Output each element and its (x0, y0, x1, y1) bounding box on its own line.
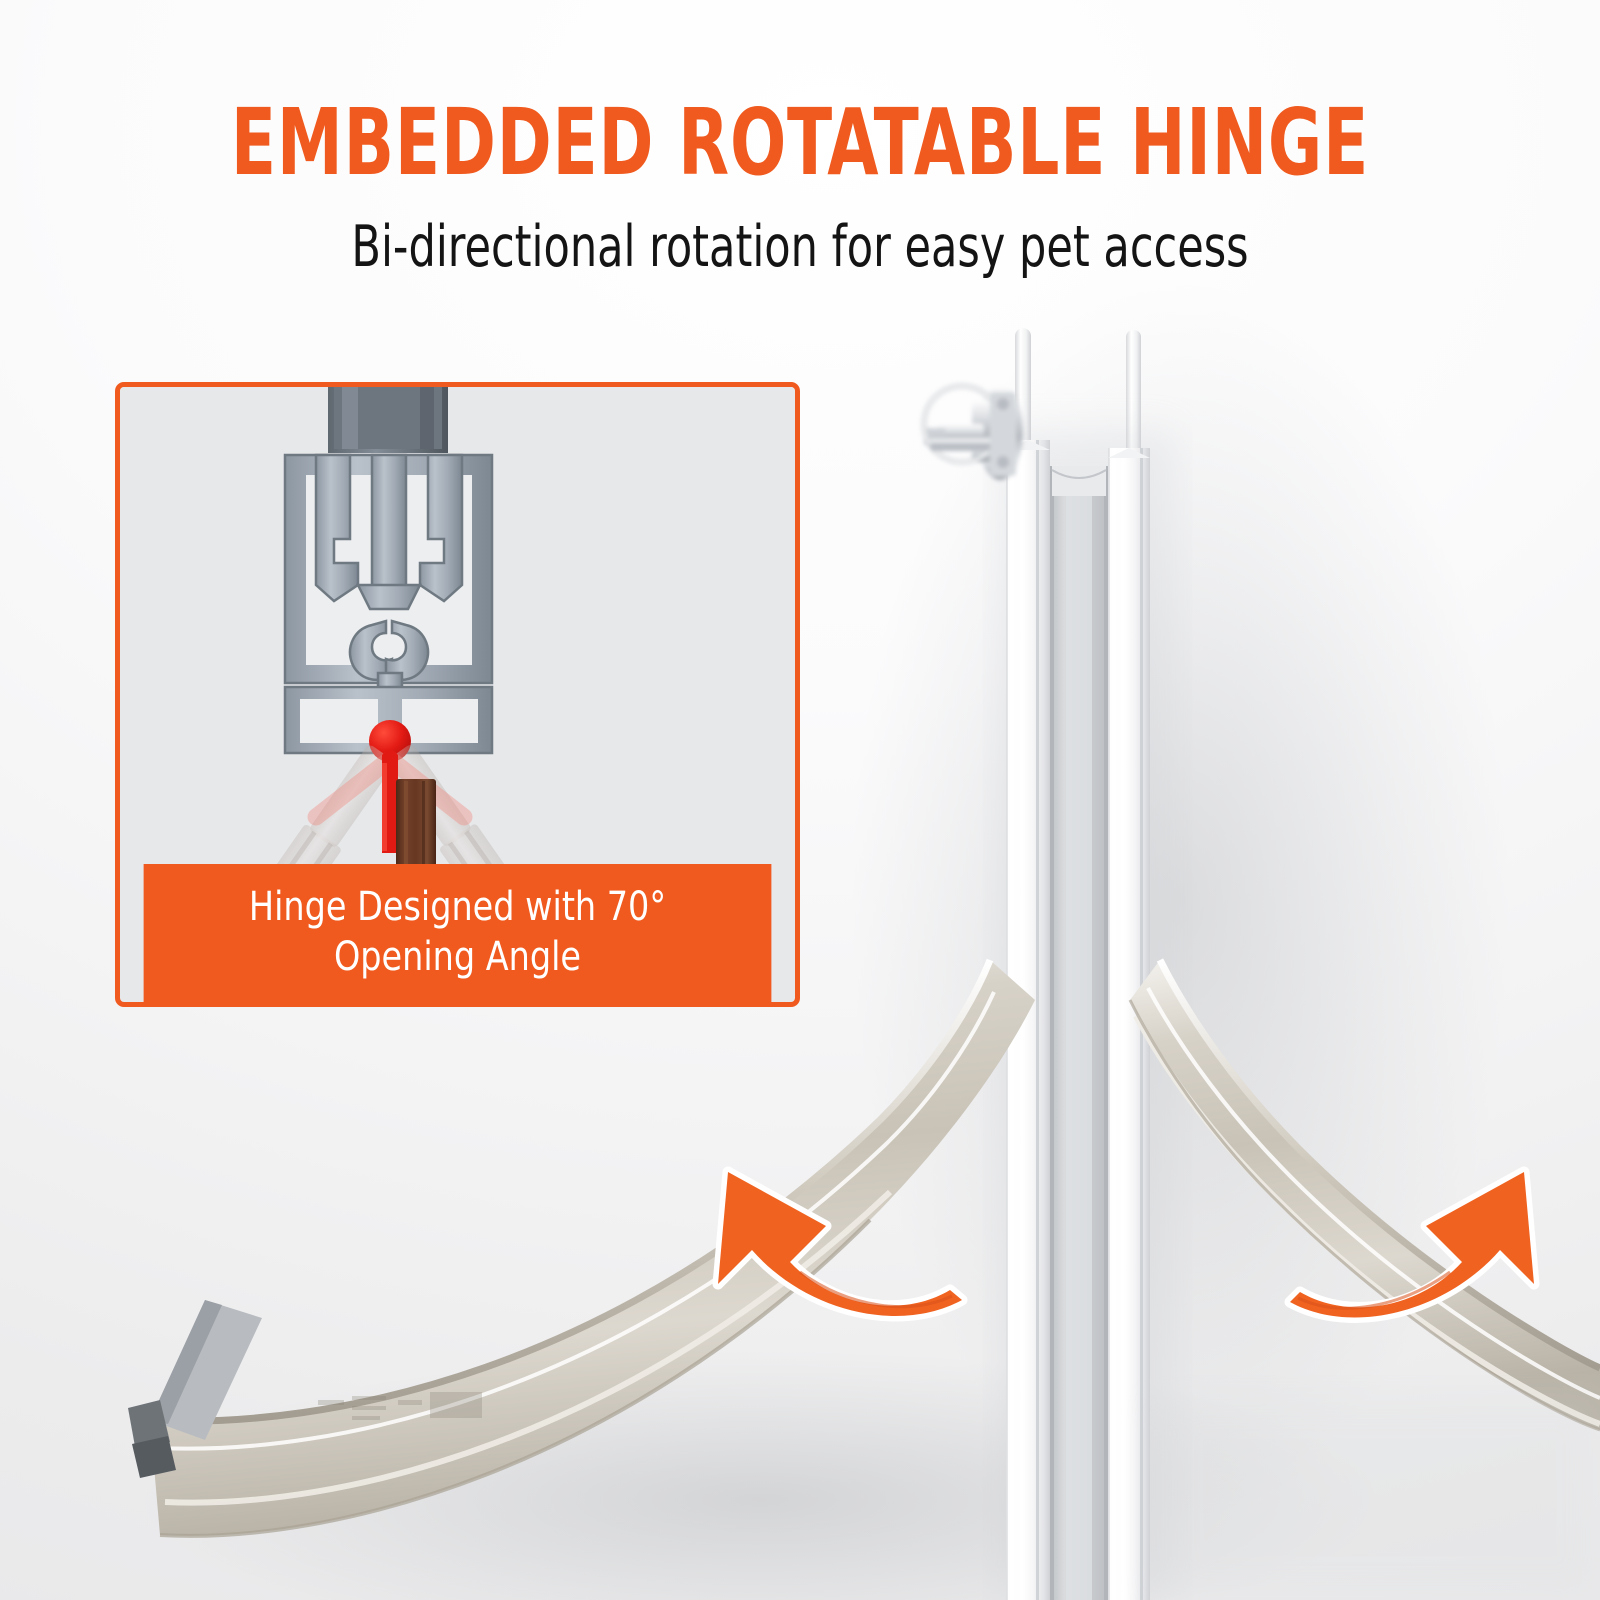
product-feature-graphic: Hinge Designed with 70° Opening Angle EM… (0, 0, 1600, 1600)
page-title: EMBEDDED ROTATABLE HINGE (160, 95, 1440, 191)
gate-frame-assembly (1000, 328, 1175, 1600)
inset-caption: Hinge Designed with 70° Opening Angle (144, 864, 772, 1002)
page-subtitle: Bi-directional rotation for easy pet acc… (128, 216, 1472, 278)
hinge-cross-section-diagram (120, 387, 795, 907)
inset-caption-line1: Hinge Designed with 70° (249, 884, 666, 930)
hinge-detail-callout: Hinge Designed with 70° Opening Angle (115, 382, 800, 1007)
inset-caption-line2: Opening Angle (334, 934, 581, 980)
